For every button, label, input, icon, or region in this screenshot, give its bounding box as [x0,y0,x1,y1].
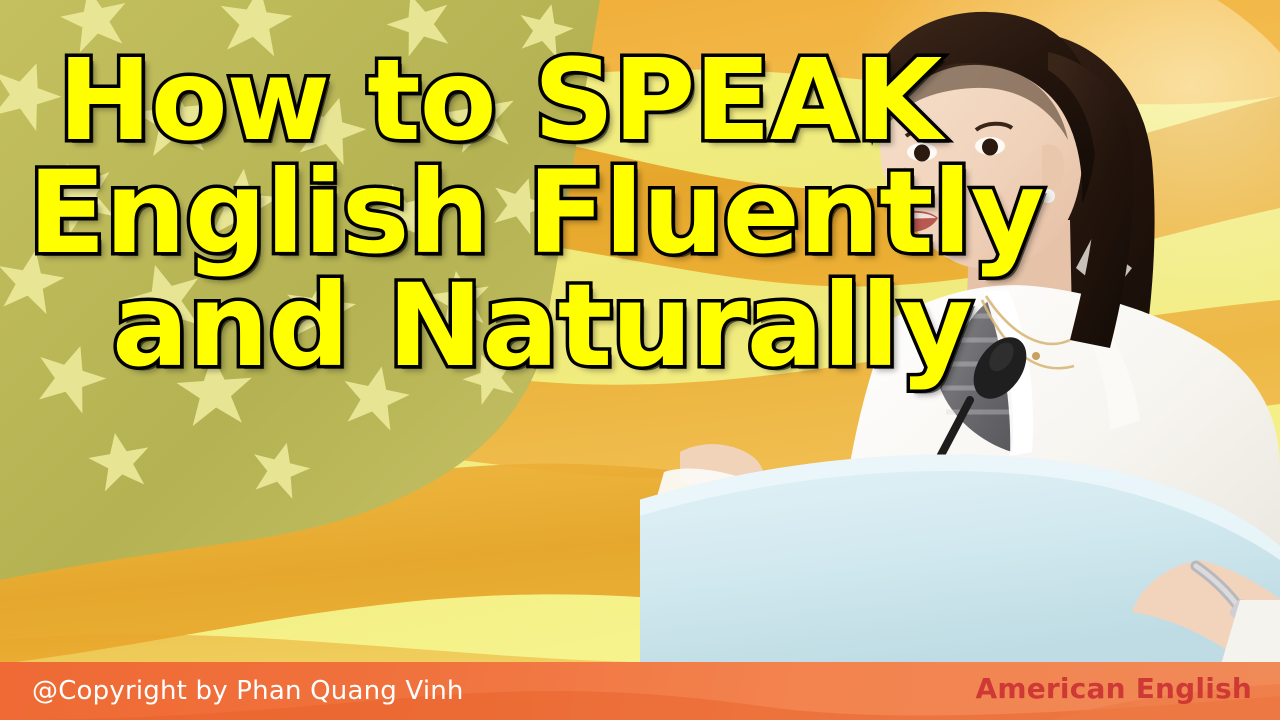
earring [1041,189,1055,203]
necklace-pendant [1032,352,1040,360]
brand-label: American English [975,672,1252,705]
video-thumbnail: How to SPEAK English Fluently and Natura… [0,0,1280,720]
copyright-label: @Copyright by Phan Quang Vinh [32,676,464,706]
eye-right [982,139,998,156]
footer-bar: @Copyright by Phan Quang Vinh American E… [0,662,1280,720]
eye-left [914,145,930,162]
speaker-photo [640,0,1280,668]
